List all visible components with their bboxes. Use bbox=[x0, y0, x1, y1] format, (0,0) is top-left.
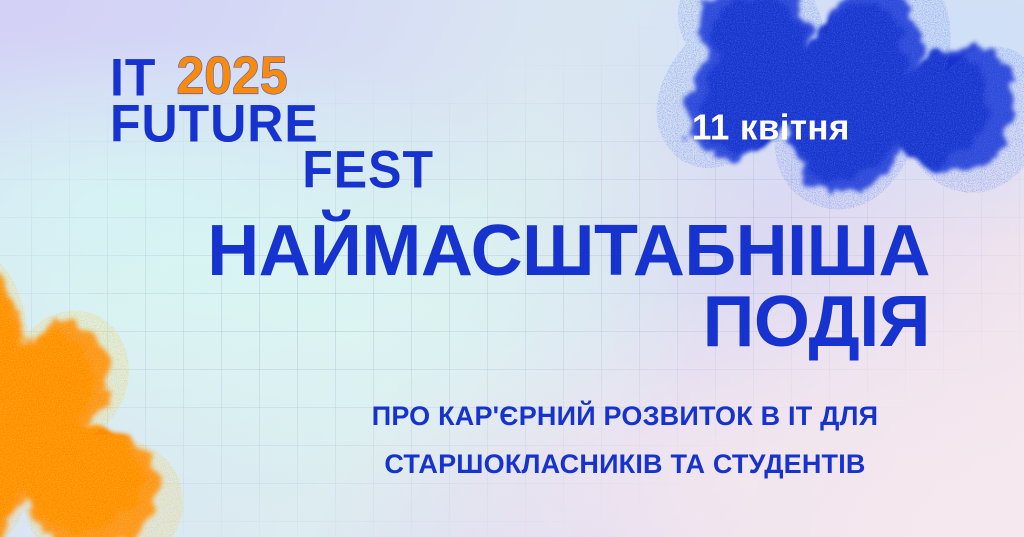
logo-year-2025: 2025 bbox=[176, 51, 287, 100]
headline-line-1: НАЙМАСШТАБНІША bbox=[64, 216, 930, 287]
logo-future: FUTURE bbox=[110, 99, 319, 148]
event-logo: IT 2025 FUTURE FEST bbox=[110, 56, 440, 194]
headline: НАЙМАСШТАБНІША ПОДІЯ bbox=[64, 216, 930, 357]
event-poster: IT 2025 FUTURE FEST 11 квітня НАЙМАСШТАБ… bbox=[0, 0, 1024, 537]
subtitle-line-2: СТАРШОКЛАСНИКІВ ТА СТУДЕНТІВ bbox=[300, 440, 950, 488]
headline-line-2: ПОДІЯ bbox=[64, 287, 930, 358]
subtitle: ПРО КАР'ЄРНИЙ РОЗВИТОК В ІТ ДЛЯ СТАРШОКЛ… bbox=[300, 392, 950, 488]
subtitle-line-1: ПРО КАР'ЄРНИЙ РОЗВИТОК В ІТ ДЛЯ bbox=[300, 392, 950, 440]
event-date: 11 квітня bbox=[692, 107, 850, 149]
logo-fest: FEST bbox=[302, 145, 434, 194]
logo-line-3: FEST bbox=[110, 148, 440, 194]
